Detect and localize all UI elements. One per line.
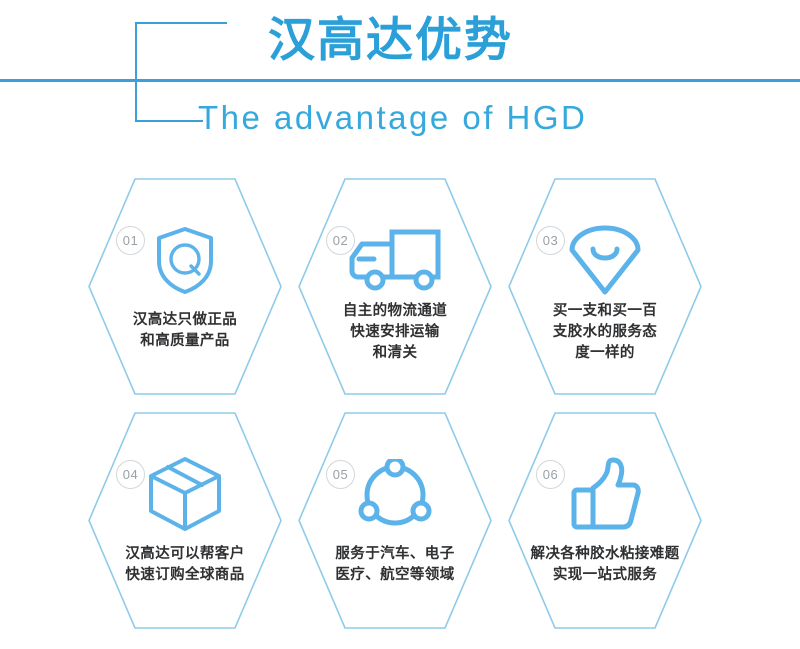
caption-line: 和清关 [301, 343, 489, 364]
caption-line: 自主的物流通道 [301, 301, 489, 322]
feature-caption: 自主的物流通道 快速安排运输 和清关 [301, 301, 489, 364]
feature-card-01[interactable]: 01 汉高达只做正品 和高质量产品 [85, 174, 285, 399]
feature-caption: 服务于汽车、电子 医疗、航空等领域 [301, 544, 489, 586]
page-header: 汉高达优势 The advantage of HGD [0, 0, 800, 160]
caption-line: 度一样的 [511, 343, 699, 364]
feature-caption: 买一支和买一百 支胶水的服务态 度一样的 [511, 301, 699, 364]
caption-line: 解决各种胶水粘接难题 [511, 544, 699, 565]
caption-line: 服务于汽车、电子 [301, 544, 489, 565]
bracket-bottom-line [135, 120, 203, 122]
bracket-top-line [135, 22, 227, 24]
truck-icon [295, 214, 495, 306]
feature-grid: 01 汉高达只做正品 和高质量产品 02 [0, 160, 800, 649]
network-share-icon [295, 448, 495, 540]
feature-card-05[interactable]: 05 服务于汽车、电子 医疗、航空等领域 [295, 408, 495, 633]
bracket-vertical-line [135, 22, 137, 122]
box-icon [85, 448, 285, 540]
caption-line: 实现一站式服务 [511, 565, 699, 586]
caption-line: 医疗、航空等领域 [301, 565, 489, 586]
feature-card-03[interactable]: 03 买一支和买一百 支胶水的服务态 度一样的 [505, 174, 705, 399]
page-subtitle-en: The advantage of HGD [198, 98, 587, 138]
feature-caption: 汉高达可以帮客户 快速订购全球商品 [91, 544, 279, 586]
page-title-cn: 汉高达优势 [268, 11, 513, 69]
header-divider-rule [0, 79, 800, 82]
feature-card-04[interactable]: 04 汉高达可以帮客户 快速订购全球商品 [85, 408, 285, 633]
caption-line: 和高质量产品 [91, 331, 279, 352]
caption-line: 支胶水的服务态 [511, 322, 699, 343]
caption-line: 快速安排运输 [301, 322, 489, 343]
feature-caption: 解决各种胶水粘接难题 实现一站式服务 [511, 544, 699, 586]
thumbs-up-icon [505, 448, 705, 540]
caption-line: 买一支和买一百 [511, 301, 699, 322]
feature-card-02[interactable]: 02 自主的物流通道 快速安排运输 和清关 [295, 174, 495, 399]
shield-q-icon [85, 214, 285, 306]
caption-line: 汉高达可以帮客户 [91, 544, 279, 565]
feature-card-06[interactable]: 06 解决各种胶水粘接难题 实现一站式服务 [505, 408, 705, 633]
advantage-poster: 汉高达优势 The advantage of HGD 01 [0, 0, 800, 649]
caption-line: 汉高达只做正品 [91, 310, 279, 331]
diamond-smile-icon [505, 214, 705, 306]
feature-caption: 汉高达只做正品 和高质量产品 [91, 310, 279, 352]
caption-line: 快速订购全球商品 [91, 565, 279, 586]
